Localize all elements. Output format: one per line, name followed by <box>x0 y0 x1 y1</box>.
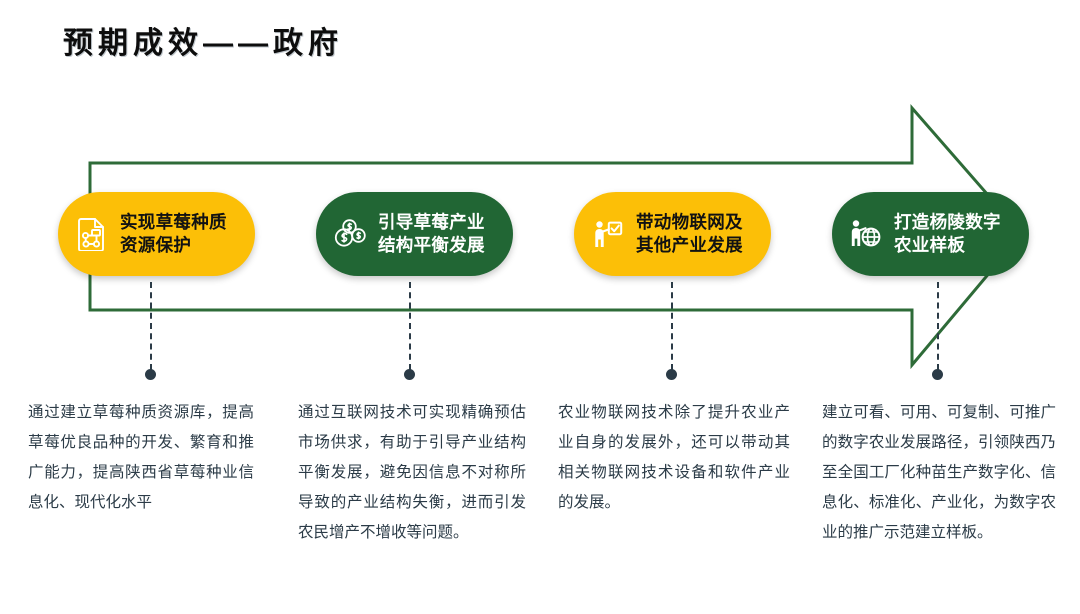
connector-line-2 <box>409 282 411 370</box>
document-network-icon <box>72 212 112 256</box>
connector-dot-2 <box>404 369 415 380</box>
step-card-4-label: 打造杨陵数字 农业样板 <box>894 211 1001 257</box>
connector-line-4 <box>937 282 939 370</box>
step-card-1[interactable]: 实现草莓种质 资源保护 <box>58 192 255 276</box>
coins-dollar-icon <box>330 212 370 256</box>
step-card-2-label: 引导草莓产业 结构平衡发展 <box>378 211 485 257</box>
step-card-2[interactable]: 引导草莓产业 结构平衡发展 <box>316 192 513 276</box>
page-title: 预期成效——政府 <box>63 18 343 62</box>
step-card-1-label: 实现草莓种质 资源保护 <box>120 211 227 257</box>
connector-dot-3 <box>666 369 677 380</box>
step-caption-2: 通过互联网技术可实现精确预估市场供求，有助于引导产业结构平衡发展，避免因信息不对… <box>298 398 526 548</box>
connector-line-1 <box>150 282 152 370</box>
step-card-3[interactable]: 带动物联网及 其他产业发展 <box>574 192 771 276</box>
connector-dot-1 <box>145 369 156 380</box>
step-caption-1: 通过建立草莓种质资源库，提高草莓优良品种的开发、繁育和推广能力，提高陕西省草莓种… <box>28 398 254 518</box>
connector-line-3 <box>671 282 673 370</box>
step-caption-4: 建立可看、可用、可复制、可推广的数字农业发展路径，引领陕西乃至全国工厂化种苗生产… <box>822 398 1056 548</box>
step-card-3-label: 带动物联网及 其他产业发展 <box>636 211 743 257</box>
person-globe-icon <box>846 212 886 256</box>
step-card-4[interactable]: 打造杨陵数字 农业样板 <box>832 192 1029 276</box>
connector-dot-4 <box>932 369 943 380</box>
person-checklist-icon <box>588 212 628 256</box>
step-caption-3: 农业物联网技术除了提升农业产业自身的发展外，还可以带动其相关物联网技术设备和软件… <box>558 398 790 518</box>
